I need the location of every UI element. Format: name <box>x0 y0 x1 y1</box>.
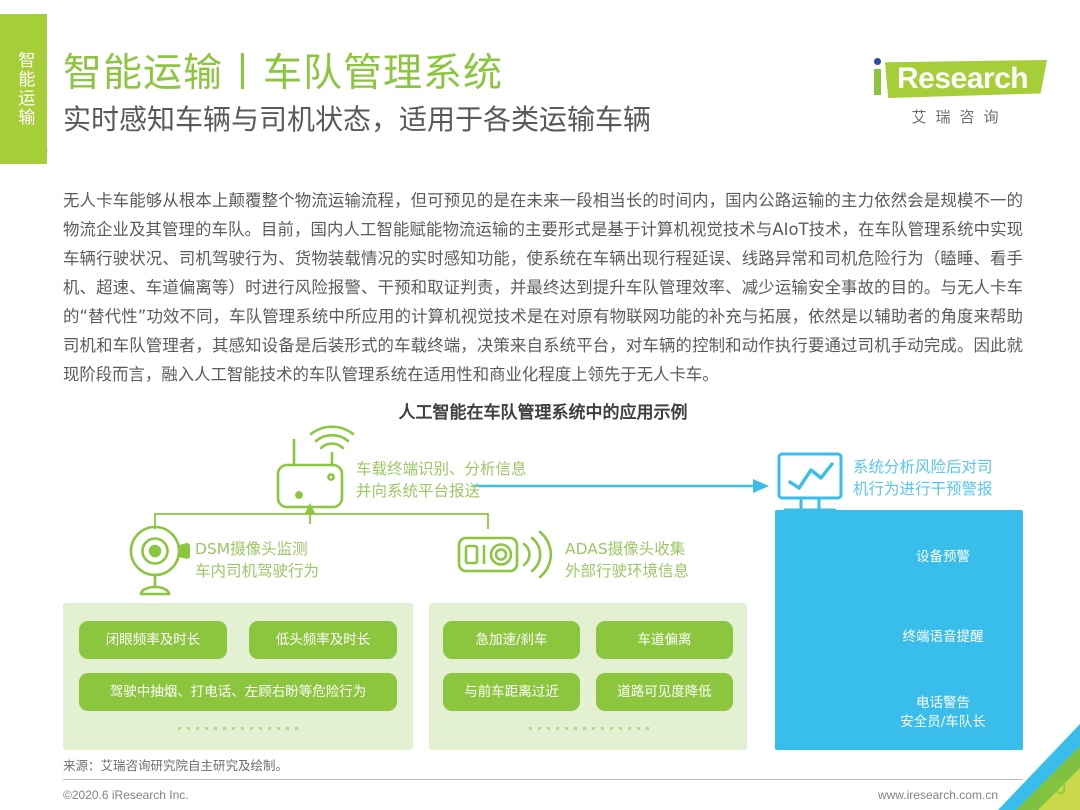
alert-row-0[interactable]: 设备预警 <box>883 548 1003 567</box>
section-tab-label: 智能运输 <box>15 51 33 127</box>
corner-decoration <box>994 724 1080 810</box>
dsm-item-2[interactable]: 驾驶中抽烟、打电话、左顾右盼等危险行为 <box>79 673 397 711</box>
adas-item-2[interactable]: 与前车距离过近 <box>443 673 580 711</box>
adas-label: ADAS摄像头收集 外部行驶环境信息 <box>565 538 689 582</box>
logo-wordmark: Research <box>897 62 1028 96</box>
adas-group-panel: 急加速/刹车 车道偏离 与前车距离过近 道路可见度降低 <box>429 603 747 750</box>
logo-mark: Research <box>863 56 1048 102</box>
adas-camera-icon <box>459 532 551 577</box>
alert-label-1: 终端语音提醒 <box>883 628 1003 647</box>
dsm-item-0[interactable]: 闭眼频率及时长 <box>79 621 227 659</box>
dsm-group-panel: 闭眼频率及时长 低头频率及时长 驾驶中抽烟、打电话、左顾右盼等危险行为 <box>63 603 413 750</box>
adas-item-0[interactable]: 急加速/刹车 <box>443 621 580 659</box>
logo-i-dot-icon <box>874 58 881 65</box>
diagram: 人工智能在车队管理系统中的应用示例 <box>63 398 1023 758</box>
alert-row-1[interactable]: 终端语音提醒 <box>883 628 1003 647</box>
monitor-chart-icon <box>779 454 841 510</box>
alert-label-0: 设备预警 <box>883 548 1003 567</box>
system-label: 系统分析风险后对司 机行为进行干预警报 <box>853 456 993 500</box>
logo-chinese-name: 艾瑞咨询 <box>863 106 1048 127</box>
vehicle-terminal-icon <box>278 427 353 507</box>
dsm-camera-icon <box>131 527 190 594</box>
page-number: 20 <box>1044 777 1066 800</box>
dsm-group-dotted-divider <box>178 727 298 730</box>
bracket-arrow-up-icon <box>305 503 316 514</box>
terminal-label: 车载终端识别、分析信息 并向系统平台报送 <box>356 458 527 502</box>
bracket-connector <box>155 514 488 529</box>
alert-label-2: 电话警告 安全员/车队长 <box>883 694 1003 732</box>
iresearch-logo: Research 艾瑞咨询 <box>863 56 1048 127</box>
page-title: 智能运输丨车队管理系统 <box>63 52 651 96</box>
dsm-label: DSM摄像头监测 车内司机驾驶行为 <box>195 538 319 582</box>
page-subtitle: 实时感知车辆与司机状态，适用于各类运输车辆 <box>63 102 651 137</box>
alert-row-2[interactable]: 电话警告 安全员/车队长 <box>883 694 1003 732</box>
logo-i-stem-icon <box>874 69 881 95</box>
dsm-item-1[interactable]: 低头频率及时长 <box>249 621 397 659</box>
adas-item-1[interactable]: 车道偏离 <box>596 621 733 659</box>
copyright-text: ©2020.6 iResearch Inc. <box>63 788 189 802</box>
source-note: 来源：艾瑞咨询研究院自主研究及绘制。 <box>63 755 288 774</box>
website-text: www.iresearch.com.cn <box>878 788 998 802</box>
body-paragraph: 无人卡车能够从根本上颠覆整个物流运输流程，但可预见的是在未来一段相当长的时间内，… <box>63 186 1023 389</box>
adas-group-dotted-divider <box>529 727 649 730</box>
corner-stripes-icon <box>994 724 1080 810</box>
page-header: 智能运输丨车队管理系统 实时感知车辆与司机状态，适用于各类运输车辆 <box>63 52 651 137</box>
section-tab: 智能运输 <box>0 14 47 164</box>
adas-item-3[interactable]: 道路可见度降低 <box>596 673 733 711</box>
footer-divider <box>63 779 1023 780</box>
alert-panel: 设备预警 终端语音提醒 电话警告 安全员/车队长 <box>775 510 1023 750</box>
